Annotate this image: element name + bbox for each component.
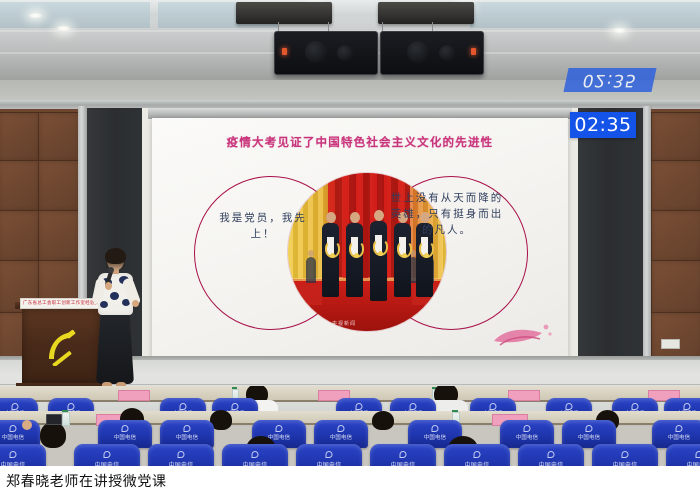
countdown-timer-value: 02:35 — [574, 114, 631, 136]
wall-panel-l1 — [0, 112, 40, 162]
wall-panel-r1 — [651, 112, 700, 162]
seat-r3-c4[interactable]: 中国电信 — [222, 444, 288, 466]
seat-logo-mark — [178, 451, 185, 458]
speaker-cone-r2 — [439, 45, 455, 61]
presenter-blouse-pattern-3 — [110, 292, 119, 300]
presenter-hand-right — [132, 300, 139, 307]
seat-r3-c10[interactable]: 中国电信 — [666, 444, 700, 466]
seat-r3-c6[interactable]: 中国电信 — [370, 444, 436, 466]
wall-panel-l6 — [38, 210, 80, 262]
seat-r3-c9[interactable]: 中国电信 — [592, 444, 658, 466]
audience-head-7 — [40, 422, 66, 448]
photo-back-person-1 — [306, 257, 316, 283]
water-bottle-3 — [62, 412, 70, 426]
ceiling-downlight-5 — [612, 27, 627, 34]
seat-logo-mark — [410, 403, 417, 410]
seat-logo-mark — [338, 425, 345, 432]
photo-table-left — [292, 285, 322, 305]
audience-arm-raised — [22, 420, 32, 430]
seat-logo-mark — [122, 425, 129, 432]
seat-r3-c3[interactable]: 中国电信 — [148, 444, 214, 466]
slide-title: 疫情大考见证了中国特色社会主义文化的先进性 — [152, 134, 568, 150]
timer-ceiling-reflection: 02:35 — [563, 68, 656, 92]
microphone-head — [108, 267, 114, 273]
seat-logo-mark — [524, 425, 531, 432]
speaker-cone-l2 — [337, 45, 353, 61]
seat-logo-mark — [12, 403, 19, 410]
seat-logo-mark — [184, 425, 191, 432]
water-bottle-cap-3 — [62, 410, 68, 412]
slide-right-quote: 世上没有从天而降的英雄，只有挺身而出的凡人。 — [388, 190, 506, 238]
stage-curtain-right — [578, 108, 644, 361]
seat-logo-mark — [632, 403, 639, 410]
water-bottle-cap-4 — [452, 410, 458, 412]
seat-logo-mark — [10, 425, 17, 432]
wall-panel-l5 — [0, 210, 40, 262]
screenshot-root: 疫情大考见证了中国特色社会主义文化的先进性 — [0, 0, 700, 497]
wall-panel-r5 — [651, 312, 700, 362]
photo-awardee-head-2 — [350, 212, 360, 223]
photo-medal-1 — [325, 241, 340, 258]
photo-awardee-1 — [322, 223, 339, 297]
seat-r3-c8[interactable]: 中国电信 — [518, 444, 584, 466]
seat-logo-mark — [326, 451, 333, 458]
photo-back-head-1 — [308, 250, 314, 257]
seat-logo-mark — [356, 403, 363, 410]
hammer-and-sickle-emblem — [42, 326, 82, 366]
audience-phone[interactable] — [46, 414, 62, 425]
speaker-led-left — [282, 48, 287, 55]
presenter-trousers — [96, 312, 134, 384]
seat-r3-c5[interactable]: 中国电信 — [296, 444, 362, 466]
presenter-person — [88, 250, 142, 394]
seat-logo-text: 中国电信 — [652, 433, 700, 441]
seat-logo-mark — [548, 451, 555, 458]
seat-logo-mark — [10, 451, 17, 458]
photo-medal-3 — [373, 239, 388, 256]
seat-logo-text: 中国电信 — [160, 433, 214, 441]
speaker-shade-left — [236, 2, 332, 24]
exit-sign — [661, 339, 680, 349]
countdown-timer[interactable]: 02:35 — [570, 112, 636, 138]
audience-area: 中国电信 中国电信 中国电信 中国电信 中国电信 中国电信 — [0, 386, 700, 466]
seat-logo-text: 中国电信 — [500, 433, 554, 441]
wall-panel-r4 — [651, 260, 700, 314]
slide-left-quote: 我是党员，我先上！ — [207, 210, 319, 242]
seat-logo-mark — [566, 403, 573, 410]
seat-r3-c2[interactable]: 中国电信 — [74, 444, 140, 466]
wall-panel-l4 — [38, 160, 80, 212]
photo-awardee-head-3 — [374, 210, 384, 221]
wall-panel-l2 — [38, 112, 80, 162]
wall-panel-r3 — [651, 210, 700, 262]
seat-logo-text: 中国电信 — [98, 433, 152, 441]
ceiling-glass-right — [470, 2, 700, 28]
seat-logo-text: 中国电信 — [314, 433, 368, 441]
slide-decoration-icon — [490, 319, 554, 349]
seat-logo-text: 中国电信 — [562, 433, 616, 441]
water-bottle-cap-1 — [232, 387, 237, 389]
wall-panel-r2 — [651, 160, 700, 212]
seat-logo-mark — [696, 451, 700, 458]
seat-logo-mark — [252, 451, 259, 458]
seat-logo-mark — [400, 451, 407, 458]
ceiling-downlight-1 — [28, 12, 43, 19]
ceiling-speaker-right — [380, 31, 484, 75]
seat-logo-mark — [276, 425, 283, 432]
photo-awardee-3 — [370, 221, 387, 301]
timer-reflection-text: 02:35 — [581, 70, 639, 90]
ceiling-glass-left — [0, 2, 150, 28]
audience-head-5 — [372, 411, 394, 430]
seat-r3-c7[interactable]: 中国电信 — [444, 444, 510, 466]
conference-photo: 疫情大考见证了中国特色社会主义文化的先进性 — [0, 0, 700, 466]
speaker-cone-r1 — [407, 41, 429, 63]
photo-caption: 郑春晓老师在讲授微党课 — [6, 471, 167, 491]
seat-logo-mark — [180, 403, 187, 410]
speaker-shade-right — [378, 2, 474, 24]
projection-screen: 疫情大考见证了中国特色社会主义文化的先进性 — [152, 118, 568, 361]
presenter-hand-holding-mic — [105, 282, 112, 290]
photo-watermark-logo — [324, 321, 331, 328]
seat-logo-mark — [684, 403, 691, 410]
ceiling-speaker-left — [274, 31, 378, 75]
photo-medal-5 — [419, 241, 434, 258]
photo-medal-2 — [349, 241, 364, 258]
seat-logo-text: 中国电信 — [0, 433, 40, 441]
seat-logo-mark — [676, 425, 683, 432]
seat-logo-mark — [104, 451, 111, 458]
seat-logo-mark — [490, 403, 497, 410]
seat-logo-mark — [586, 425, 593, 432]
name-card-1 — [118, 390, 150, 401]
speaker-cone-l1 — [305, 41, 327, 63]
photo-awardee-2 — [346, 223, 363, 297]
photo-watermark-text: 央视新闻 — [332, 320, 356, 327]
seat-logo-mark — [474, 451, 481, 458]
seat-logo-mark — [232, 403, 239, 410]
seat-logo-mark — [68, 403, 75, 410]
photo-medal-4 — [397, 241, 412, 258]
wall-panel-l3 — [0, 160, 40, 212]
photo-awardee-head-1 — [326, 212, 336, 223]
seat-logo-mark — [622, 451, 629, 458]
speaker-led-right — [471, 48, 476, 55]
ceiling-downlight-2 — [56, 25, 71, 32]
seat-logo-mark — [432, 425, 439, 432]
seat-r3-c1[interactable]: 中国电信 — [0, 444, 46, 466]
